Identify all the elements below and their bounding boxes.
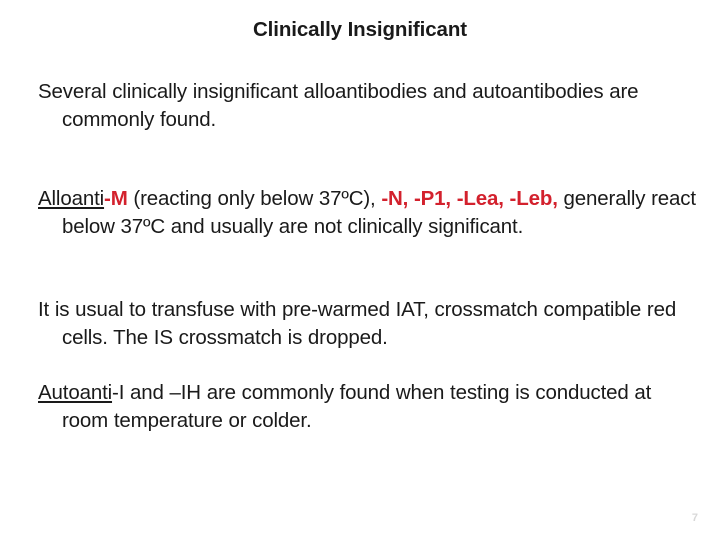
antigen-label-m: -M: [104, 187, 128, 210]
alloanti-lead-word: Alloanti: [38, 187, 104, 210]
slide-title: Clinically Insignificant: [0, 18, 720, 43]
paragraph-1-text: Several clinically insignificant alloant…: [38, 80, 638, 131]
paragraph-3: It is usual to transfuse with pre-warmed…: [38, 296, 702, 351]
antigen-label-list: -N, -P1, -Lea, -Leb,: [381, 187, 557, 210]
slide-canvas: Clinically Insignificant Several clinica…: [0, 0, 720, 539]
autoanti-lead-word: Autoanti: [38, 381, 112, 404]
page-number: 7: [692, 512, 698, 524]
paragraph-4: Autoanti-I and –IH are commonly found wh…: [38, 379, 702, 434]
paragraph-4-text: -I and –IH are commonly found when testi…: [62, 381, 651, 432]
paragraph-3-text: It is usual to transfuse with pre-warmed…: [38, 298, 676, 349]
paragraph-1: Several clinically insignificant alloant…: [38, 78, 662, 133]
paragraph-2-text-part-1: (reacting only below 37ºC),: [128, 187, 382, 210]
paragraph-2: Alloanti-M (reacting only below 37ºC), -…: [38, 185, 702, 240]
